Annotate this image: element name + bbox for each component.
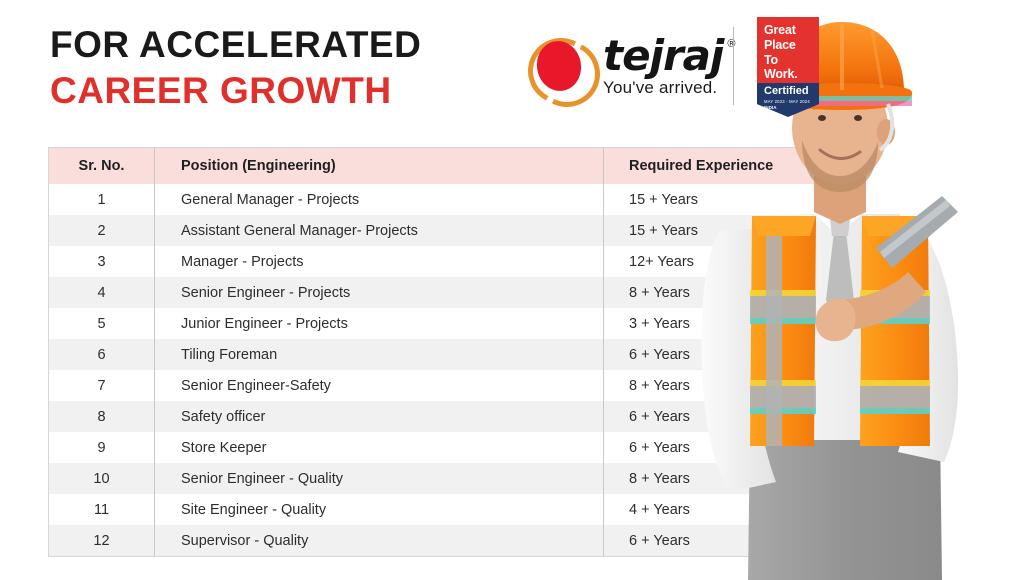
registered-trademark-icon: ® — [727, 38, 735, 50]
cell-sr-no: 5 — [49, 308, 155, 339]
poster-canvas: FOR ACCELERATED CAREER GROWTH tejraj ® Y… — [0, 0, 1024, 580]
great-place-to-work-badge: Great Place To Work. Certified MAY 2023 … — [757, 17, 819, 117]
badge-line-1: Great — [764, 23, 813, 38]
badge-line-3: To — [764, 53, 813, 68]
cell-sr-no: 10 — [49, 463, 155, 494]
cell-experience: 15 + Years — [604, 184, 821, 215]
tejraj-logo-mark-icon — [525, 33, 597, 101]
page-title: FOR ACCELERATED CAREER GROWTH — [50, 26, 421, 109]
tejraj-logo: tejraj ® You've arrived. — [525, 28, 723, 106]
cell-sr-no: 4 — [49, 277, 155, 308]
cell-experience: 6 + Years — [604, 339, 821, 370]
cell-sr-no: 8 — [49, 401, 155, 432]
cell-sr-no: 1 — [49, 184, 155, 215]
cell-position: Safety officer — [155, 401, 604, 432]
cell-experience: 8 + Years — [604, 370, 821, 401]
cell-sr-no: 2 — [49, 215, 155, 246]
table-row: 6Tiling Foreman6 + Years — [49, 339, 821, 370]
table-row: 7Senior Engineer-Safety8 + Years — [49, 370, 821, 401]
column-header-position: Position (Engineering) — [155, 148, 604, 185]
logo-tagline: You've arrived. — [603, 78, 723, 98]
cell-position: Senior Engineer - Projects — [155, 277, 604, 308]
cell-experience: 6 + Years — [604, 432, 821, 463]
cell-experience: 15 + Years — [604, 215, 821, 246]
job-openings-table: Sr. No. Position (Engineering) Required … — [48, 147, 821, 557]
cell-position: General Manager - Projects — [155, 184, 604, 215]
table-row: 3Manager - Projects12+ Years — [49, 246, 821, 277]
table-row: 8Safety officer6 + Years — [49, 401, 821, 432]
table-header-row: Sr. No. Position (Engineering) Required … — [49, 148, 821, 185]
cell-sr-no: 9 — [49, 432, 155, 463]
cell-experience: 6 + Years — [604, 401, 821, 432]
table-row: 1General Manager - Projects15 + Years — [49, 184, 821, 215]
table-row: 10Senior Engineer - Quality8 + Years — [49, 463, 821, 494]
cell-sr-no: 12 — [49, 525, 155, 557]
badge-line-2: Place — [764, 38, 813, 53]
cell-position: Site Engineer - Quality — [155, 494, 604, 525]
logo-divider — [733, 27, 734, 105]
table-row: 12Supervisor - Quality6 + Years — [49, 525, 821, 557]
cell-experience: 4 + Years — [604, 494, 821, 525]
table-row: 9Store Keeper6 + Years — [49, 432, 821, 463]
cell-position: Assistant General Manager- Projects — [155, 215, 604, 246]
cell-position: Tiling Foreman — [155, 339, 604, 370]
cell-position: Store Keeper — [155, 432, 604, 463]
badge-certified-label: Certified — [764, 86, 813, 97]
table-row: 5Junior Engineer - Projects3 + Years — [49, 308, 821, 339]
cell-experience: 6 + Years — [604, 525, 821, 557]
cell-sr-no: 6 — [49, 339, 155, 370]
cell-experience: 12+ Years — [604, 246, 821, 277]
logo-wordmark: tejraj — [603, 36, 723, 76]
column-header-experience: Required Experience — [604, 148, 821, 185]
table-row: 11Site Engineer - Quality4 + Years — [49, 494, 821, 525]
column-header-sr-no: Sr. No. — [49, 148, 155, 185]
cell-position: Supervisor - Quality — [155, 525, 604, 557]
table-body: 1General Manager - Projects15 + Years2As… — [49, 184, 821, 557]
badge-dates: MAY 2023 - MAY 2024 — [764, 99, 813, 104]
table-head: Sr. No. Position (Engineering) Required … — [49, 148, 821, 185]
title-line-2: CAREER GROWTH — [50, 72, 421, 109]
cell-position: Senior Engineer - Quality — [155, 463, 604, 494]
badge-country: INDIA — [764, 105, 813, 110]
cell-experience: 3 + Years — [604, 308, 821, 339]
cell-position: Manager - Projects — [155, 246, 604, 277]
cell-position: Junior Engineer - Projects — [155, 308, 604, 339]
table-row: 4Senior Engineer - Projects8 + Years — [49, 277, 821, 308]
cell-experience: 8 + Years — [604, 277, 821, 308]
title-line-1: FOR ACCELERATED — [50, 26, 421, 63]
cell-sr-no: 3 — [49, 246, 155, 277]
cell-sr-no: 11 — [49, 494, 155, 525]
table-row: 2Assistant General Manager- Projects15 +… — [49, 215, 821, 246]
badge-line-4: Work. — [764, 67, 813, 82]
cell-sr-no: 7 — [49, 370, 155, 401]
badge-top-panel: Great Place To Work. — [757, 17, 819, 83]
badge-bottom-panel: Certified MAY 2023 - MAY 2024 INDIA — [757, 83, 819, 117]
cell-position: Senior Engineer-Safety — [155, 370, 604, 401]
logo-wordmark-group: tejraj ® You've arrived. — [603, 36, 723, 98]
cell-experience: 8 + Years — [604, 463, 821, 494]
